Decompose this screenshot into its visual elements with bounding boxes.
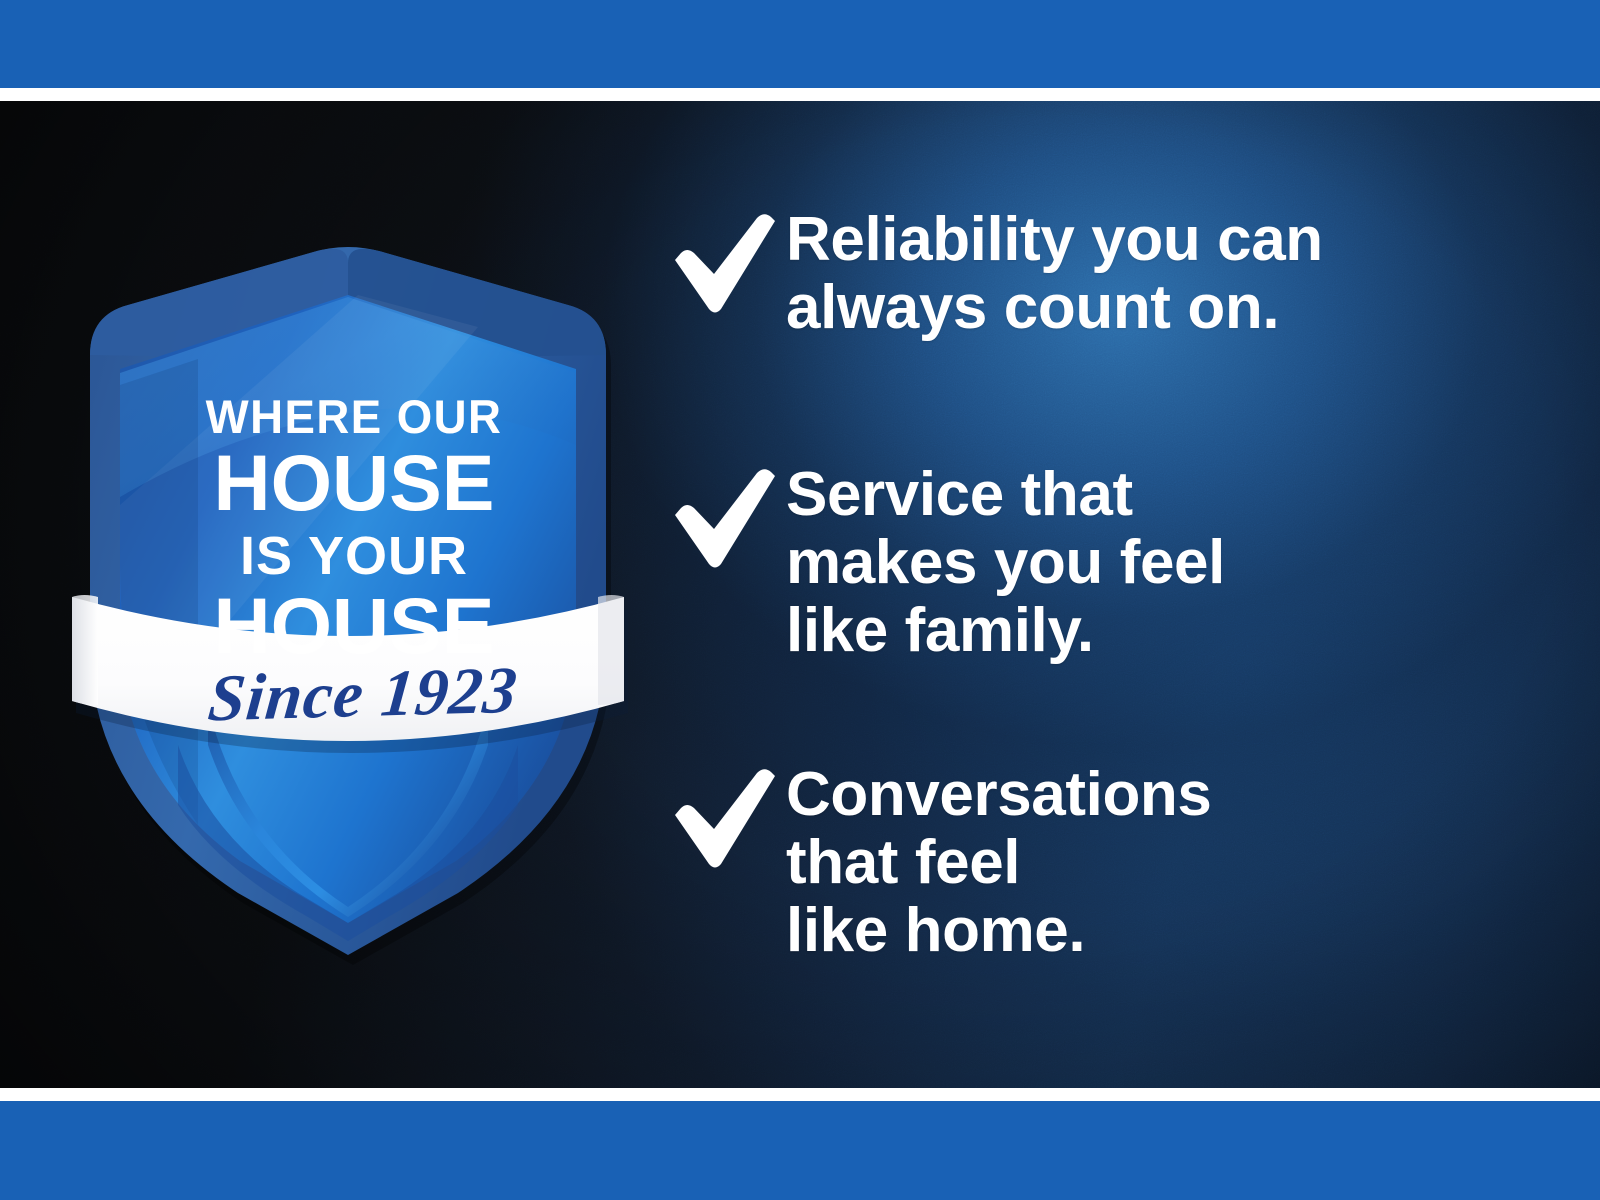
benefit-text-2: Service that makes you feel like family. [786,461,1225,666]
top-white-divider [0,88,1600,101]
bottom-white-divider [0,1088,1600,1101]
ribbon-fold-right [598,595,624,705]
benefit-item-3: Conversations that feel like home. [660,761,1211,966]
shield-badge: WHERE OUR HOUSE IS YOUR HOUSE Since 1923 [58,145,638,955]
check-icon [660,461,786,571]
benefit-item-2: Service that makes you feel like family. [660,461,1225,666]
promo-graphic: WHERE OUR HOUSE IS YOUR HOUSE Since 1923… [0,0,1600,1200]
benefit-text-3: Conversations that feel like home. [786,761,1211,966]
check-icon [660,206,786,316]
ribbon-fold-left [72,595,98,705]
bottom-brand-bar [0,1101,1600,1200]
check-icon [660,761,786,871]
benefit-item-1: Reliability you can always count on. [660,206,1323,342]
top-brand-bar [0,0,1600,88]
benefit-text-1: Reliability you can always count on. [786,206,1323,342]
benefits-list: Reliability you can always count on. Ser… [660,101,1520,1088]
